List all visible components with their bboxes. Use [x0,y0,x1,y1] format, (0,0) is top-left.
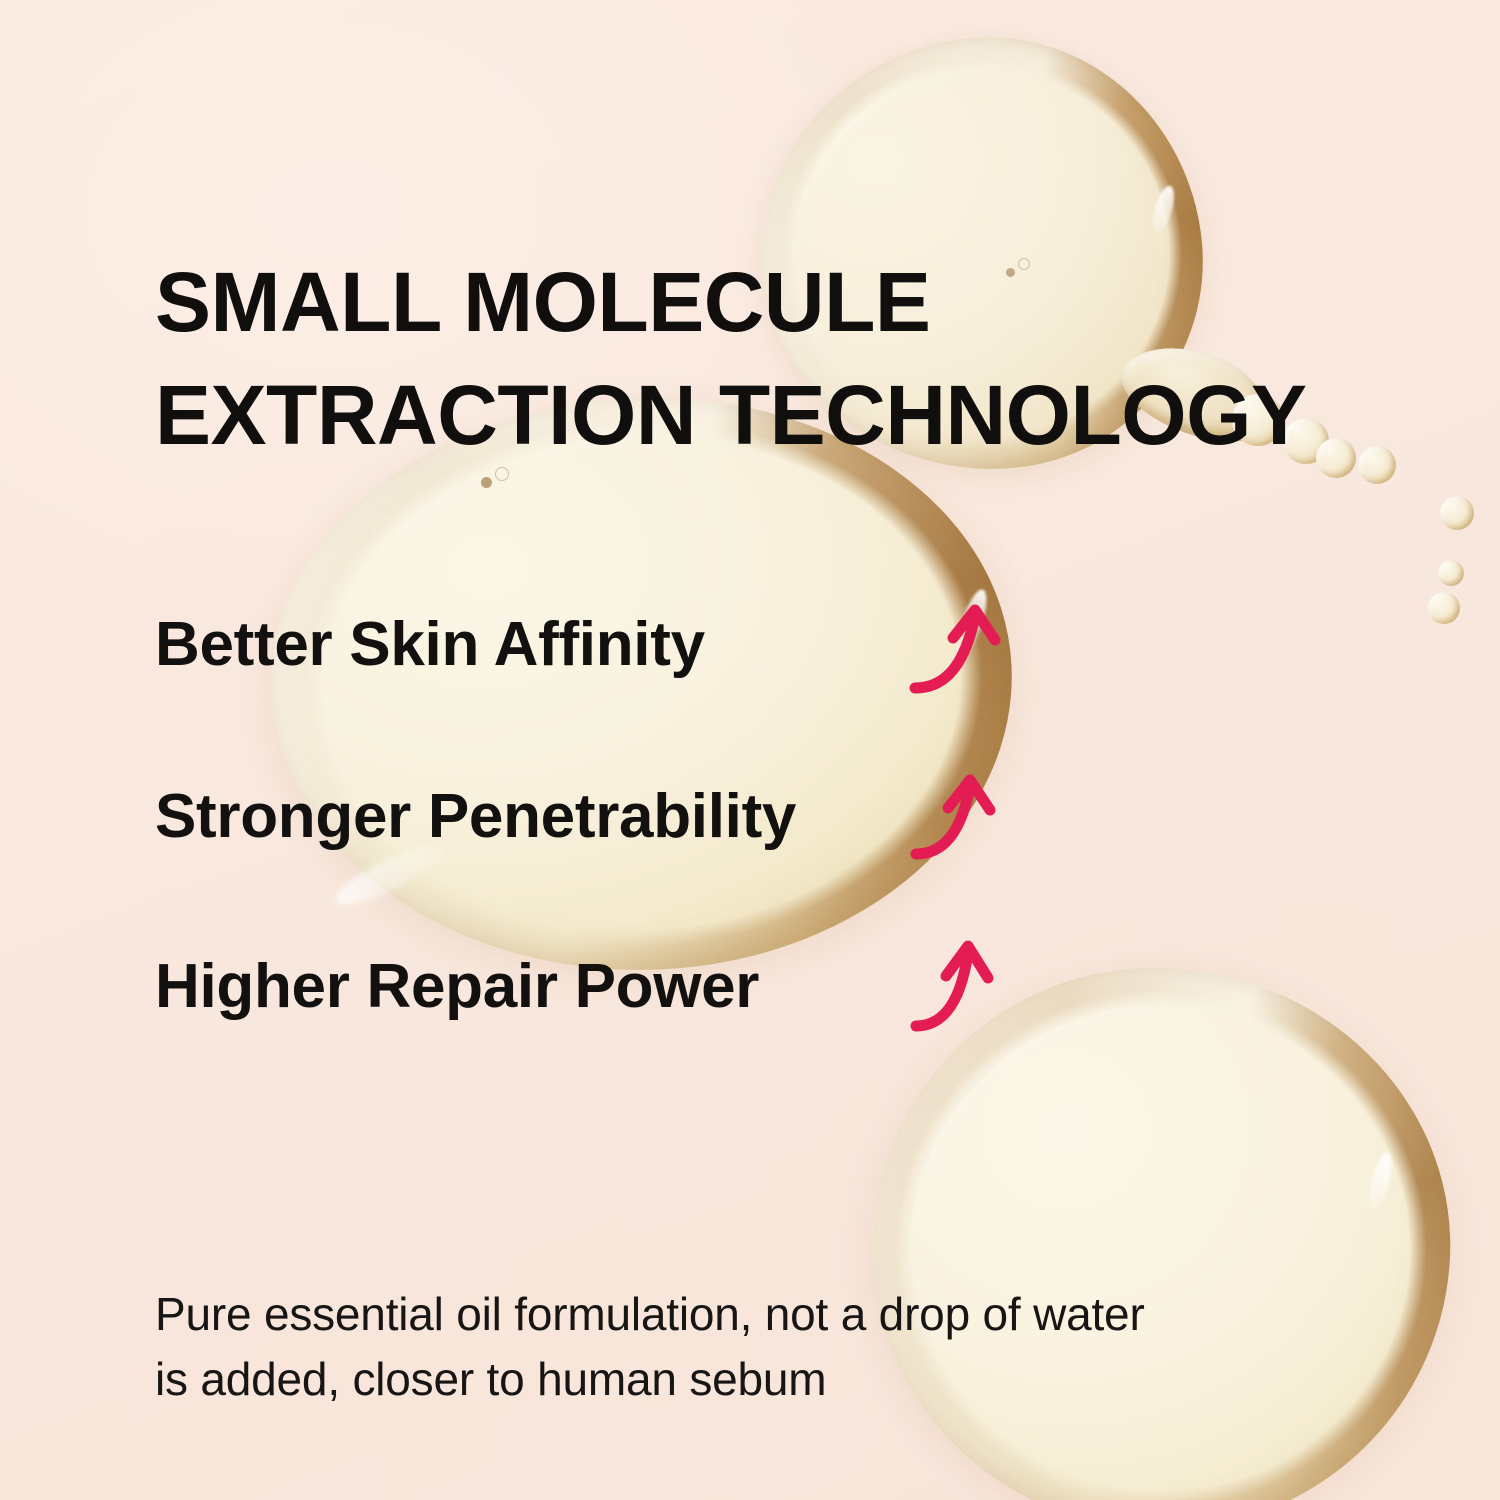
oil-bubble-trail-item [1440,496,1474,530]
benefit-item-higher-repair-power: Higher Repair Power [155,946,1055,1026]
benefit-label: Better Skin Affinity [155,609,705,680]
page-title: SMALL MOLECULE EXTRACTION TECHNOLOGY [155,246,1405,471]
caption-line-2: is added, closer to human sebum [155,1347,1365,1412]
page-title-line-1: SMALL MOLECULE [155,246,1405,359]
product-feature-poster: SMALL MOLECULE EXTRACTION TECHNOLOGY Bet… [0,0,1500,1500]
benefit-label: Stronger Penetrability [155,781,796,852]
oil-bubble-trail-item [1428,592,1460,624]
benefit-label: Higher Repair Power [155,951,759,1022]
benefit-item-better-skin-affinity: Better Skin Affinity [155,604,1055,684]
benefit-item-stronger-penetrability: Stronger Penetrability [155,776,1055,856]
oil-bubble-trail-item [1438,560,1464,586]
page-title-line-2: EXTRACTION TECHNOLOGY [155,359,1405,472]
air-bubble-icon [481,477,492,488]
caption-text: Pure essential oil formulation, not a dr… [155,1282,1365,1413]
caption-line-1: Pure essential oil formulation, not a dr… [155,1282,1365,1347]
